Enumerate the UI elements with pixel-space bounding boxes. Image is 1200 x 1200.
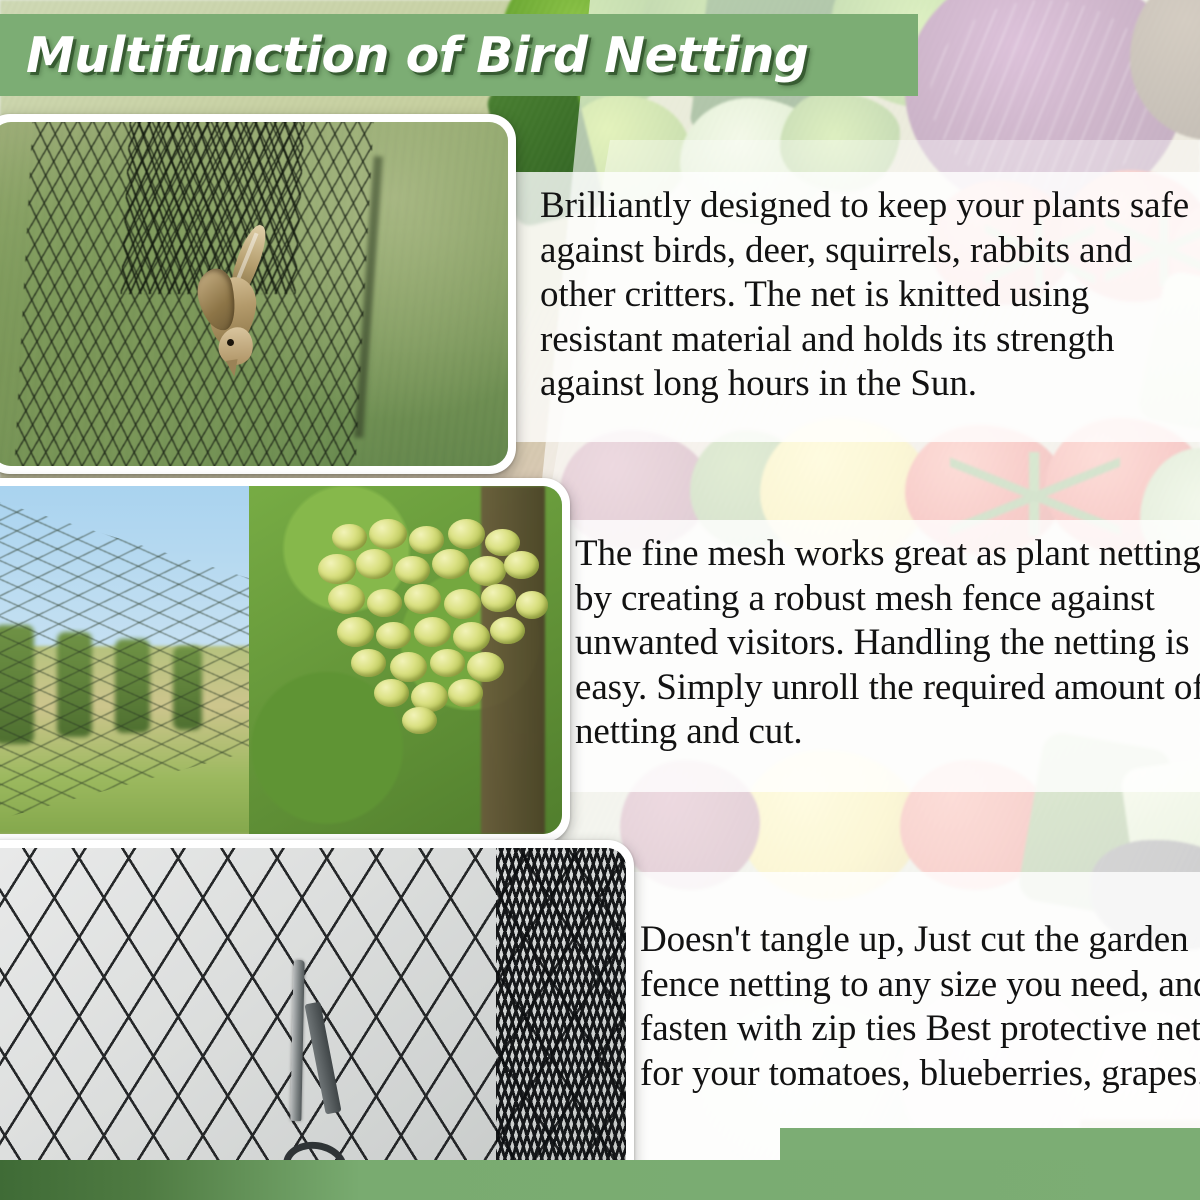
feature-1-photo-card <box>0 114 516 474</box>
feature-3-photo-card <box>0 840 634 1200</box>
feature-3-text: Doesn't tangle up, Just cut the garden f… <box>640 918 1200 1096</box>
feature-2-text: The fine mesh works great as plant netti… <box>575 532 1200 755</box>
bird-illustration <box>193 229 289 371</box>
infographic-canvas: Multifunction of Bird Netting Brilliantl… <box>0 0 1200 1200</box>
feature-2-photo-card <box>0 478 570 842</box>
feature-1-text: Brilliantly designed to keep your plants… <box>540 184 1200 407</box>
scissors-cutting-netting-photo <box>0 848 626 1198</box>
title-banner: Multifunction of Bird Netting <box>0 14 918 96</box>
vineyard-grapes-photo <box>0 486 562 834</box>
bird-in-netting-photo <box>0 122 508 466</box>
footer-band <box>0 1160 1200 1200</box>
page-title: Multifunction of Bird Netting <box>26 31 808 80</box>
